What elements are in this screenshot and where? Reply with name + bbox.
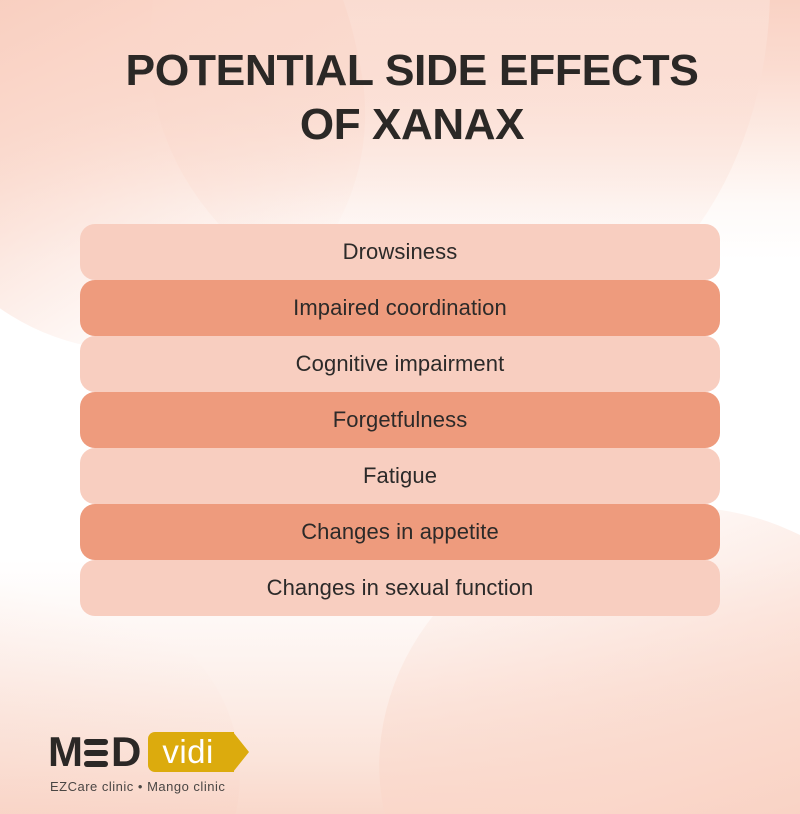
list-item: Changes in appetite (80, 504, 720, 560)
list-item: Fatigue (80, 448, 720, 504)
list-item-label: Fatigue (363, 465, 437, 487)
infographic-canvas: POTENTIAL SIDE EFFECTS OF XANAX Drowsine… (0, 0, 800, 814)
logo-badge-label: vidi (162, 732, 214, 772)
logo-letter-d: D (111, 732, 140, 772)
list-item-label: Cognitive impairment (296, 353, 505, 375)
list-item: Forgetfulness (80, 392, 720, 448)
list-item-label: Impaired coordination (293, 297, 507, 319)
page-title-line-2: OF XANAX (92, 98, 732, 152)
logo-wordmark-med: M D (48, 732, 140, 772)
side-effects-list: Drowsiness Impaired coordination Cogniti… (80, 224, 720, 616)
list-item-label: Forgetfulness (333, 409, 468, 431)
list-item: Changes in sexual function (80, 560, 720, 616)
page-title-line-1: POTENTIAL SIDE EFFECTS (89, 44, 735, 98)
logo-tagline: EZCare clinic • Mango clinic (50, 779, 234, 794)
list-item-label: Changes in appetite (301, 521, 499, 543)
list-item-label: Drowsiness (343, 241, 458, 263)
list-item: Impaired coordination (80, 280, 720, 336)
list-item-label: Changes in sexual function (267, 577, 534, 599)
page-title: POTENTIAL SIDE EFFECTS OF XANAX (92, 44, 732, 152)
logo-mark: M D vidi (48, 730, 234, 774)
list-item: Drowsiness (80, 224, 720, 280)
list-item: Cognitive impairment (80, 336, 720, 392)
logo-badge-vidi: vidi (148, 732, 234, 772)
three-bar-e-icon (84, 738, 108, 767)
logo-letter-m: M (48, 732, 82, 772)
medvidi-logo: M D vidi EZCare clinic • Mango clinic (48, 730, 234, 794)
